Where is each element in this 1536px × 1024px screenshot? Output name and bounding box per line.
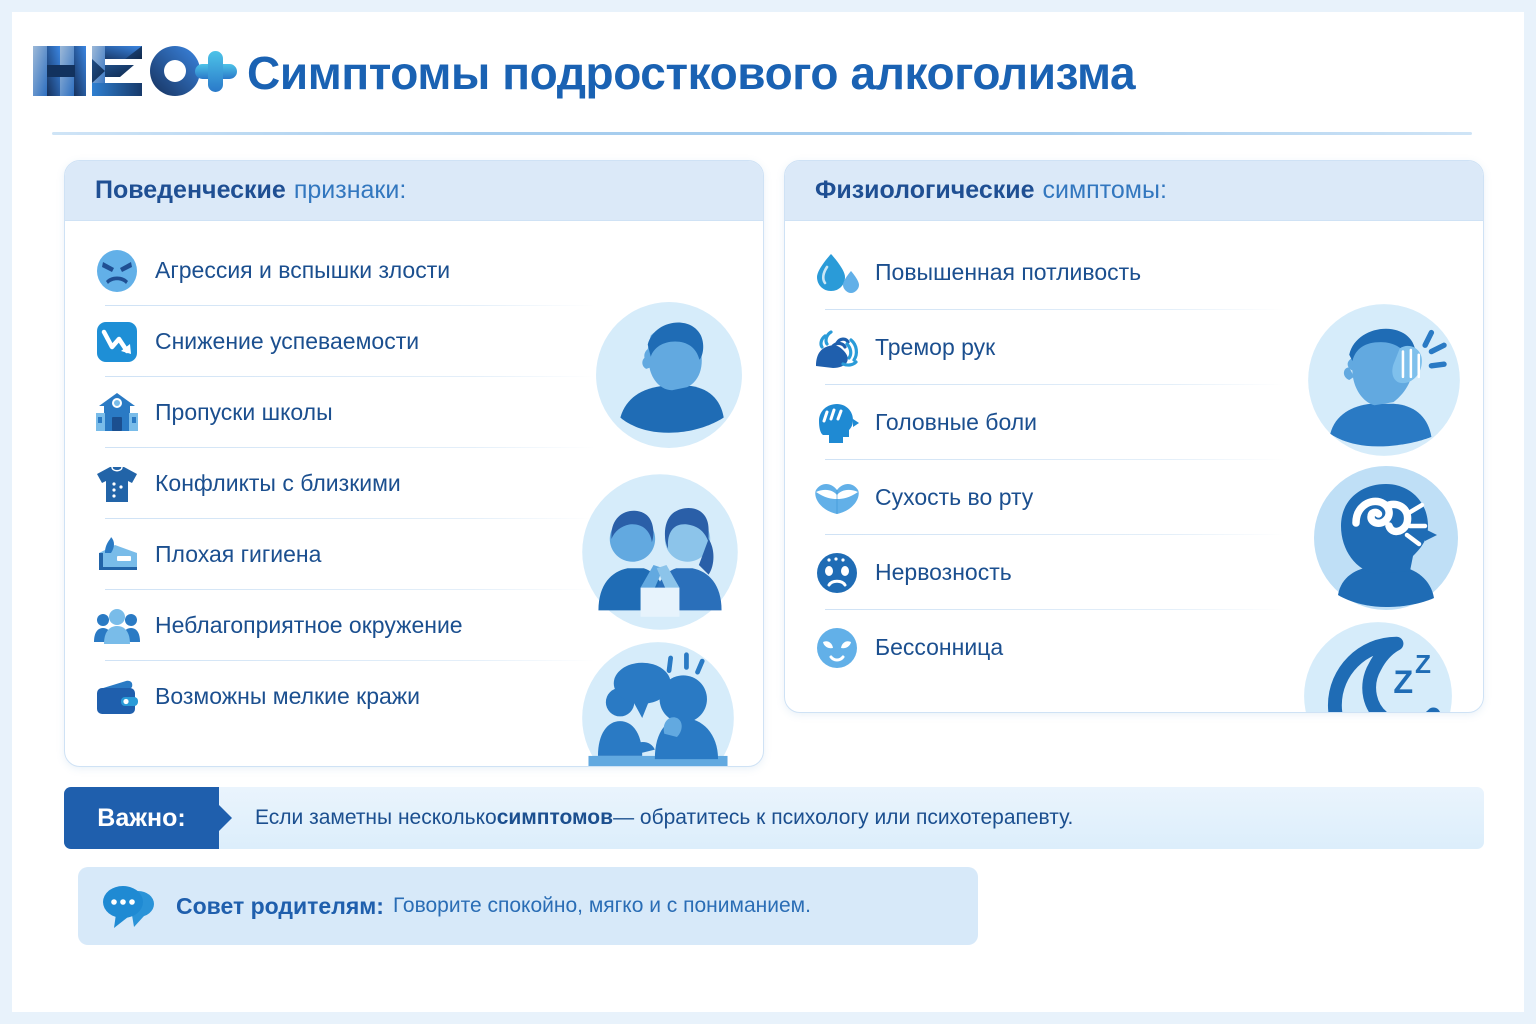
worried-face-icon: [813, 549, 861, 597]
behavioral-card-body: Агрессия и вспышки злости Снижение успев…: [65, 221, 763, 766]
behavioral-card-header: Поведенческие признаки:: [65, 161, 763, 221]
list-item-label: Повышенная потливость: [875, 259, 1141, 286]
physiological-card-body: Z Z Повышенная потливость: [785, 221, 1483, 712]
page-header: Симптомы подросткового алкоголизма: [12, 12, 1524, 132]
neo-plus-logo: [30, 40, 240, 102]
list-item[interactable]: Пропуски школы: [65, 377, 763, 448]
behavioral-signs-card: Поведенческие признаки:: [64, 160, 764, 767]
list-item-label: Тремор рук: [875, 334, 995, 361]
list-item-label: Нервозность: [875, 559, 1012, 586]
angry-face-icon: [93, 247, 141, 295]
list-item[interactable]: Тремор рук: [785, 310, 1483, 385]
list-item-label: Плохая гигиена: [155, 541, 321, 568]
sleepless-face-icon: [813, 624, 861, 672]
list-item[interactable]: Снижение успеваемости: [65, 306, 763, 377]
header-divider: [52, 132, 1472, 135]
list-item[interactable]: Головные боли: [785, 385, 1483, 460]
water-drops-icon: [813, 249, 861, 297]
physiological-symptoms-card: Физиологические симптомы:: [784, 160, 1484, 713]
behavioral-title-strong: Поведенческие: [95, 176, 286, 205]
advice-strong-label: Совет родителям:: [176, 893, 384, 920]
list-item[interactable]: Агрессия и вспышки злости: [65, 235, 763, 306]
important-banner: Важно: Если заметны несколько симптомов …: [64, 787, 1484, 849]
list-item[interactable]: Сухость во рту: [785, 460, 1483, 535]
school-building-icon: [93, 389, 141, 437]
soap-hygiene-icon: [93, 531, 141, 579]
page-title: Симптомы подросткового алкоголизма: [247, 46, 1135, 100]
important-tag-label: Важно:: [97, 804, 185, 833]
physiological-symptom-list: Повышенная потливость Тремор рук: [785, 235, 1483, 685]
important-tag: Важно:: [64, 787, 219, 849]
wallet-icon: [93, 673, 141, 721]
list-item[interactable]: Бессонница: [785, 610, 1483, 685]
physiological-title-strong: Физиологические: [815, 176, 1035, 205]
behavioral-symptom-list: Агрессия и вспышки злости Снижение успев…: [65, 235, 763, 732]
list-item-label: Неблагоприятное окружение: [155, 612, 463, 639]
important-text: Если заметны несколько симптомов — обрат…: [219, 787, 1073, 849]
list-item-label: Агрессия и вспышки злости: [155, 257, 450, 284]
list-item-label: Пропуски школы: [155, 399, 333, 426]
advice-banner: Совет родителям: Говорите спокойно, мягк…: [78, 867, 978, 945]
list-item[interactable]: Повышенная потливость: [785, 235, 1483, 310]
physiological-card-header: Физиологические симптомы:: [785, 161, 1483, 221]
list-item-label: Снижение успеваемости: [155, 328, 419, 355]
declining-chart-icon: [93, 318, 141, 366]
physiological-title-light: симптомы:: [1043, 176, 1167, 205]
important-text-after: — обратитесь к психологу или психотерапе…: [613, 806, 1073, 830]
list-item[interactable]: Возможны мелкие кражи: [65, 661, 763, 732]
speech-bubbles-icon: [102, 883, 162, 929]
list-item-label: Головные боли: [875, 409, 1037, 436]
list-item[interactable]: Неблагоприятное окружение: [65, 590, 763, 661]
list-item-label: Возможны мелкие кражи: [155, 683, 420, 710]
lips-icon: [813, 474, 861, 522]
list-item-label: Бессонница: [875, 634, 1003, 661]
list-item-label: Сухость во рту: [875, 484, 1033, 511]
list-item[interactable]: Конфликты с близкими: [65, 448, 763, 519]
group-people-icon: [93, 602, 141, 650]
advice-text: Говорите спокойно, мягко и с пониманием.: [393, 894, 811, 918]
list-item[interactable]: Плохая гигиена: [65, 519, 763, 590]
behavioral-title-light: признаки:: [294, 176, 406, 205]
tshirt-icon: [93, 460, 141, 508]
infographic-page: Симптомы подросткового алкоголизма Повед…: [12, 12, 1524, 1012]
important-text-bold: симптомов: [497, 806, 613, 830]
list-item[interactable]: Нервозность: [785, 535, 1483, 610]
list-item-label: Конфликты с близкими: [155, 470, 401, 497]
head-pain-icon: [813, 399, 861, 447]
important-text-before: Если заметны несколько: [255, 806, 497, 830]
shaking-hand-icon: [813, 324, 861, 372]
